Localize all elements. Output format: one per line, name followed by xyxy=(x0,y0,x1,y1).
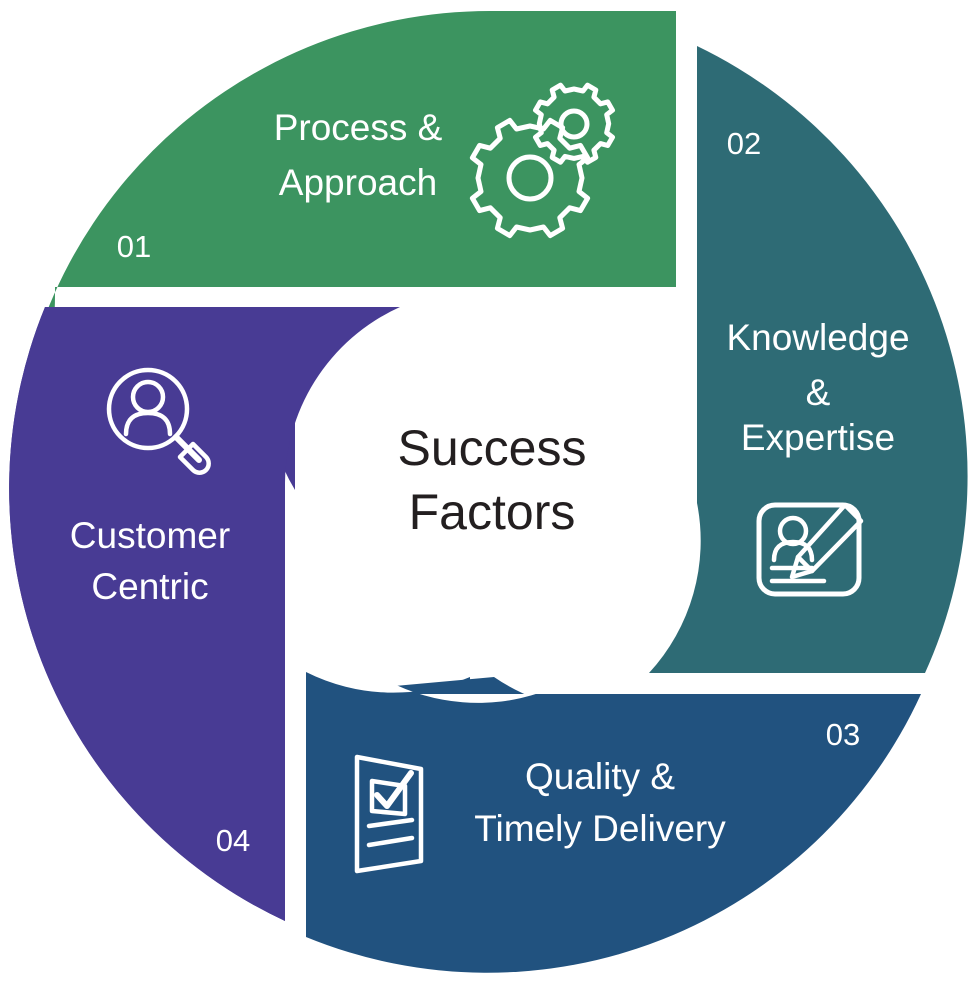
segment-02-group[interactable]: 02 Knowledge & Expertise xyxy=(649,46,968,673)
segment-03-label-line2: Timely Delivery xyxy=(474,808,726,849)
segment-01-label-line1: Process & xyxy=(274,107,443,148)
segment-02-label-line3: Expertise xyxy=(741,417,895,458)
segment-04-label-line1: Customer xyxy=(70,515,230,556)
segment-01-number: 01 xyxy=(117,229,151,264)
segment-02-number: 02 xyxy=(727,126,761,161)
segment-01-label-line2: Approach xyxy=(279,162,437,203)
pinwheel-chart: 01 Process & Approach 02 Knowledge & Exp… xyxy=(0,0,980,982)
center-circle xyxy=(297,287,687,677)
success-factors-diagram: 01 Process & Approach 02 Knowledge & Exp… xyxy=(0,0,980,982)
segment-02-label-line1: Knowledge xyxy=(726,317,909,358)
segment-03-label-line1: Quality & xyxy=(525,756,675,797)
center-title-line1: Success xyxy=(398,420,587,476)
center-title-line2: Factors xyxy=(409,484,576,540)
segment-04-label-line2: Centric xyxy=(91,566,208,607)
segment-03-number: 03 xyxy=(826,717,860,752)
segment-02-label-line2: & xyxy=(806,372,831,413)
segment-04-number: 04 xyxy=(216,823,250,858)
